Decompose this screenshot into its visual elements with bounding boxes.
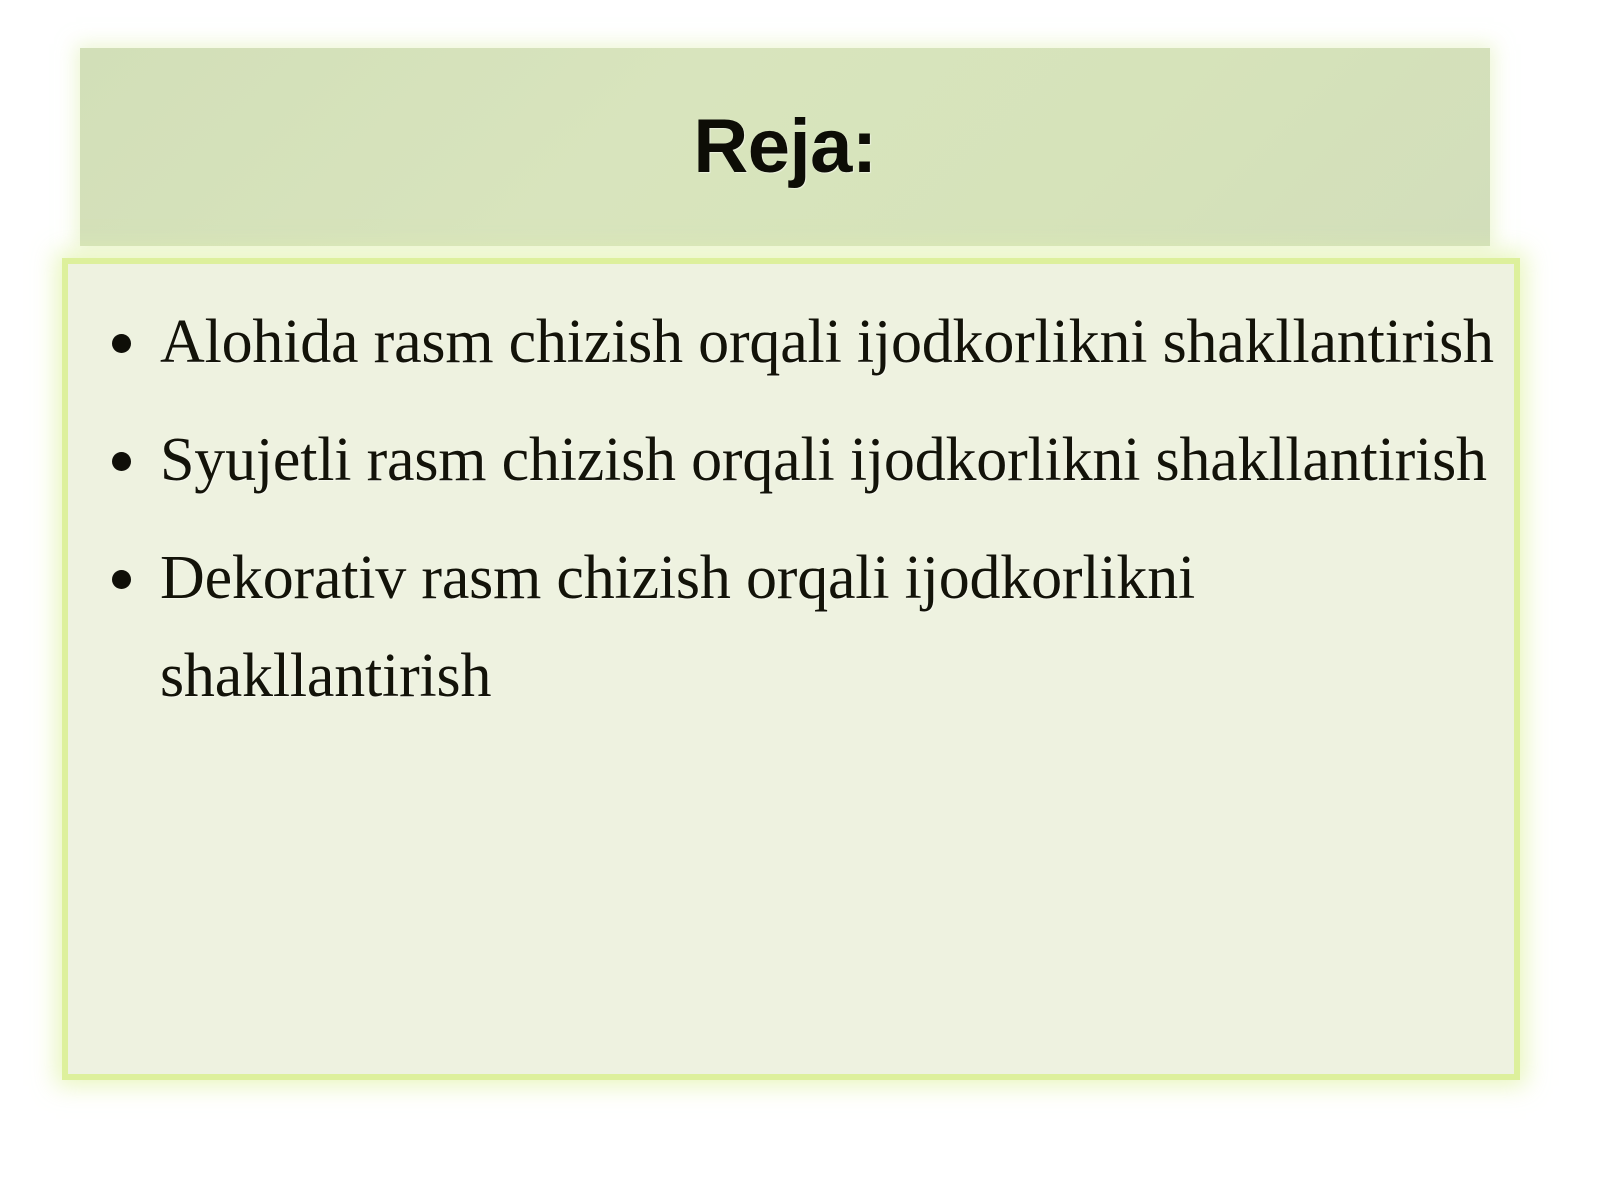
list-item-label: Alohida rasm chizish orqali ijodkorlikni… (160, 294, 1496, 392)
presentation-slide: Reja: Alohida rasm chizish orqali ijodko… (0, 0, 1600, 1200)
bullet-list: Alohida rasm chizish orqali ijodkorlikni… (92, 294, 1496, 726)
page-title: Reja: (693, 109, 876, 185)
list-item: Alohida rasm chizish orqali ijodkorlikni… (92, 294, 1496, 392)
slide-title-plate: Reja: (80, 48, 1490, 246)
list-item-label: Dekorativ rasm chizish orqali ijodkorlik… (160, 530, 1496, 726)
bullet-dot-icon (112, 570, 131, 589)
slide-content-plate: Alohida rasm chizish orqali ijodkorlikni… (62, 258, 1520, 1080)
list-item-label: Syujetli rasm chizish orqali ijodkorlikn… (160, 412, 1496, 510)
bullet-dot-icon (112, 334, 131, 353)
list-item: Dekorativ rasm chizish orqali ijodkorlik… (92, 530, 1496, 726)
list-item: Syujetli rasm chizish orqali ijodkorlikn… (92, 412, 1496, 510)
bullet-dot-icon (112, 452, 131, 471)
